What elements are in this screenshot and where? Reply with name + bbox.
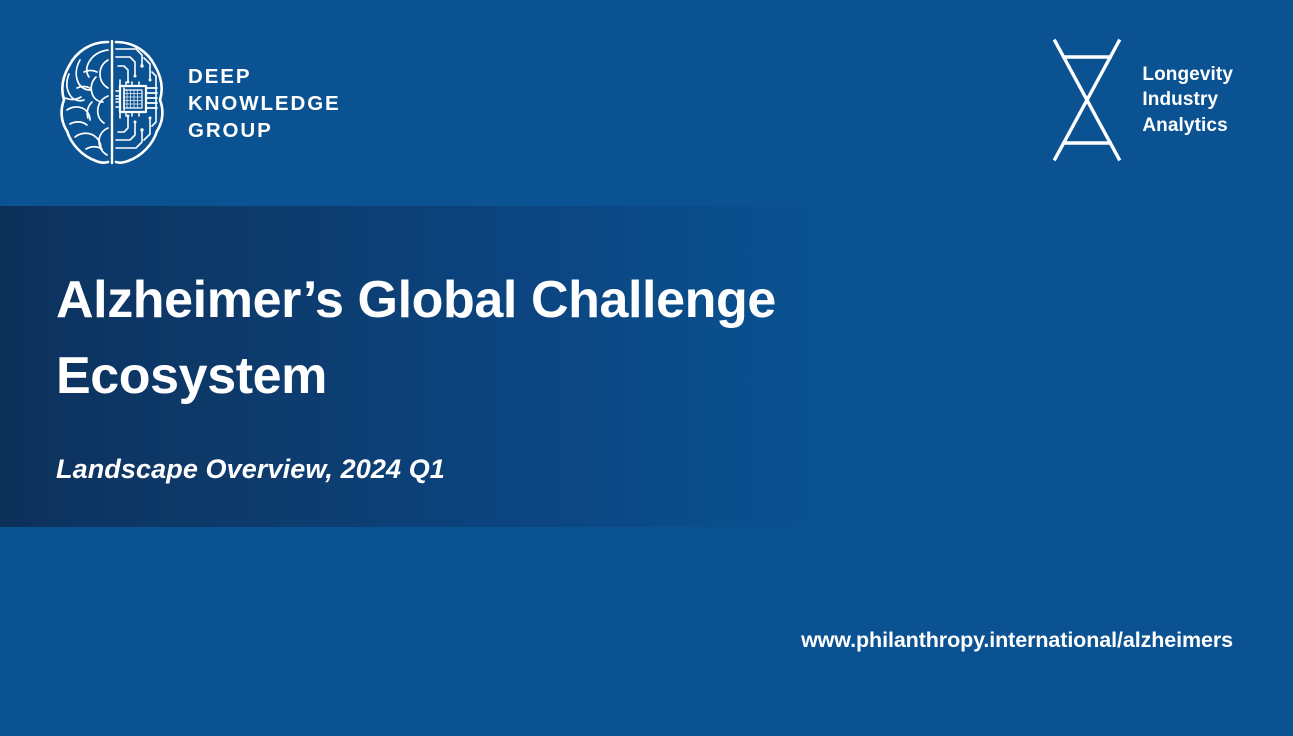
lia-line-3: Analytics [1142,113,1233,139]
deep-knowledge-group-wordmark: DEEP KNOWLEDGE GROUP [188,62,341,143]
title-slide: DEEP KNOWLEDGE GROUP Longevity Industry … [0,0,1293,736]
lia-line-2: Industry [1142,87,1233,113]
deep-knowledge-group-logo: DEEP KNOWLEDGE GROUP [56,36,341,168]
page-subtitle: Landscape Overview, 2024 Q1 [56,454,445,485]
dkg-line-1: DEEP [188,64,341,89]
hourglass-icon [1050,38,1124,162]
slide-footer: www.philanthropy.international/alzheimer… [0,616,1293,736]
longevity-industry-analytics-wordmark: Longevity Industry Analytics [1142,62,1233,139]
dkg-line-3: GROUP [188,118,341,143]
dkg-line-2: KNOWLEDGE [188,91,341,116]
longevity-industry-analytics-logo: Longevity Industry Analytics [1050,38,1233,162]
brain-circuit-icon [56,36,168,168]
lia-line-1: Longevity [1142,62,1233,88]
footer-url[interactable]: www.philanthropy.international/alzheimer… [801,628,1233,653]
page-title: Alzheimer’s Global Challenge Ecosystem [56,262,796,414]
title-band: Alzheimer’s Global Challenge Ecosystem L… [0,206,825,527]
slide-header: DEEP KNOWLEDGE GROUP Longevity Industry … [0,0,1293,206]
